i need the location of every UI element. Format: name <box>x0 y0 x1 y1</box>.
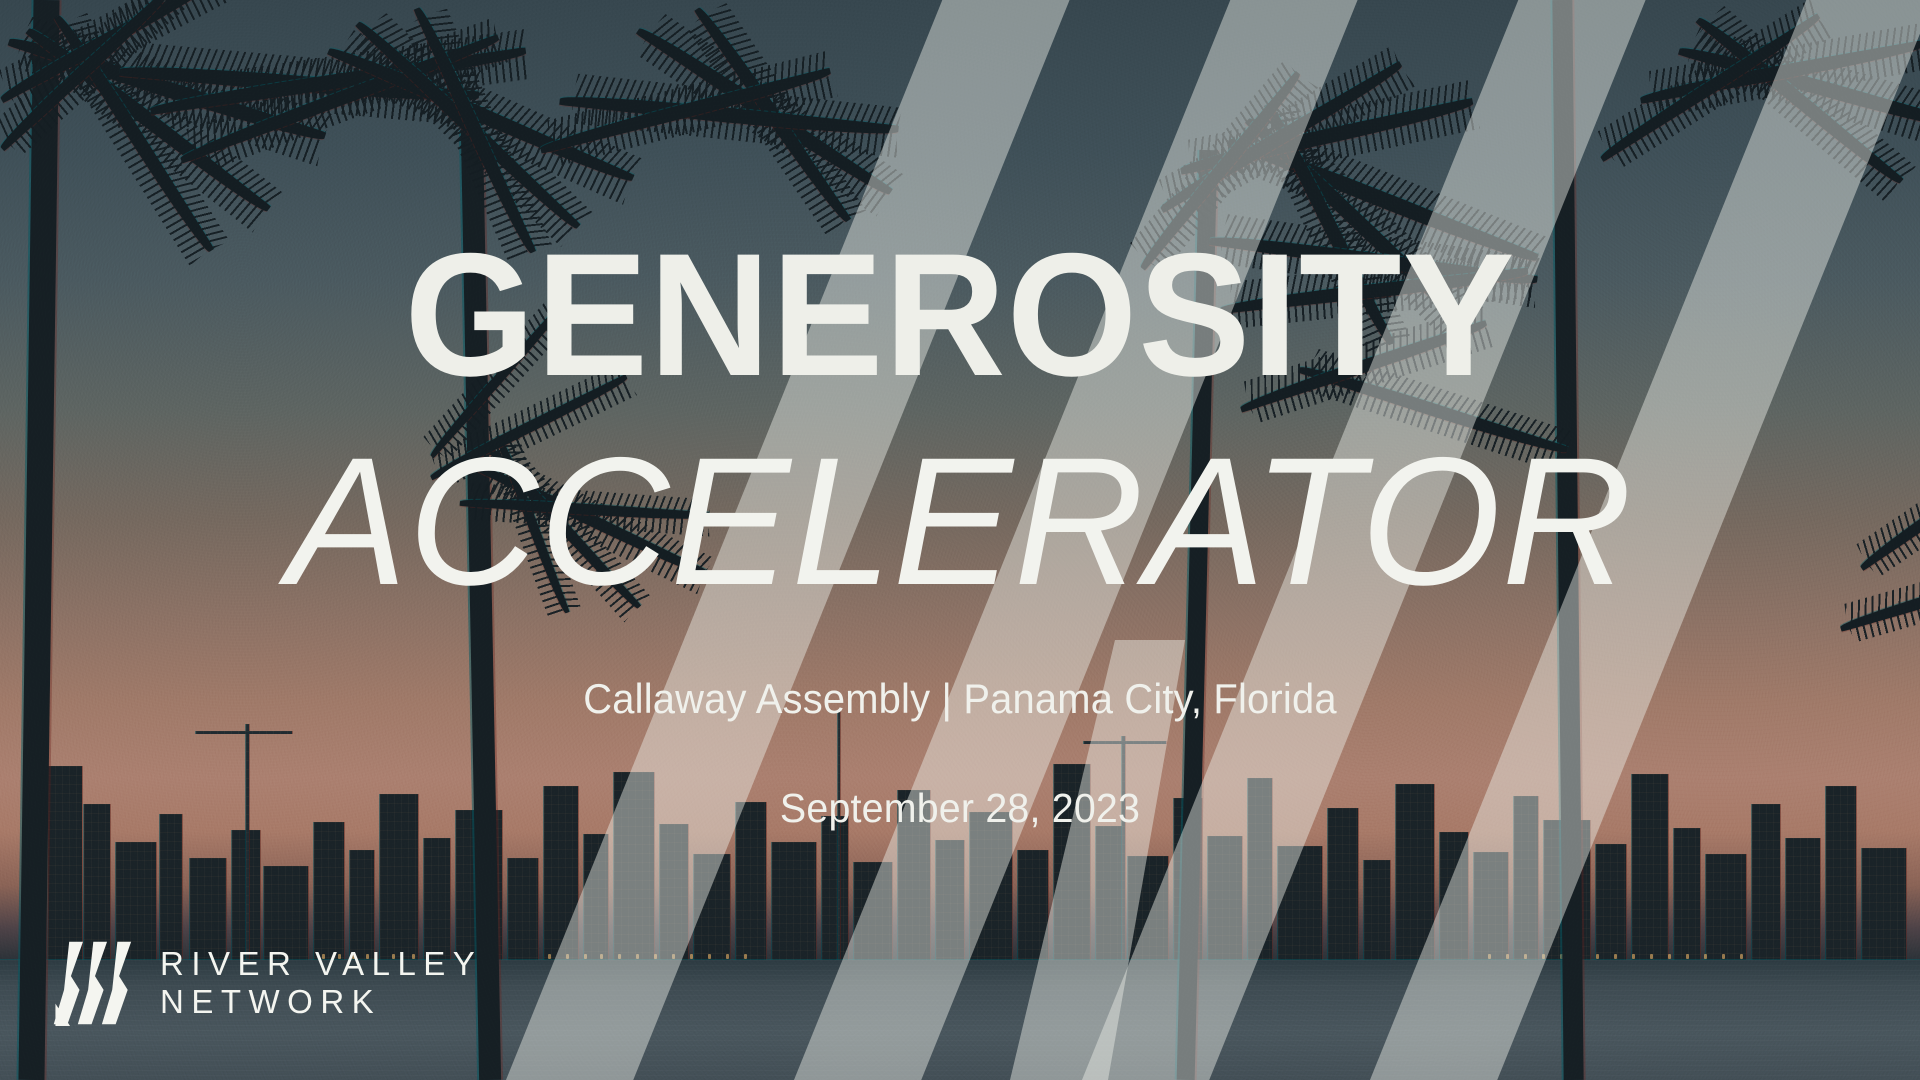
brand-wordmark-line2: NETWORK <box>160 983 482 1021</box>
event-promo-graphic: GENEROSITY ACCELERATOR Callaway Assembly… <box>0 0 1920 1080</box>
brand-wordmark-line1: RIVER VALLEY <box>160 945 482 983</box>
page-title-line1: GENEROSITY <box>38 228 1881 403</box>
text-content: GENEROSITY ACCELERATOR Callaway Assembly… <box>0 0 1920 1080</box>
river-valley-chevron-mark-icon <box>52 940 138 1026</box>
event-date: September 28, 2023 <box>38 785 1881 832</box>
brand-wordmark: RIVER VALLEY NETWORK <box>160 945 482 1022</box>
venue-location: Callaway Assembly | Panama City, Florida <box>48 675 1872 723</box>
brand-logo-lockup[interactable]: RIVER VALLEY NETWORK <box>52 940 482 1026</box>
page-title-line2: ACCELERATOR <box>10 430 1911 612</box>
